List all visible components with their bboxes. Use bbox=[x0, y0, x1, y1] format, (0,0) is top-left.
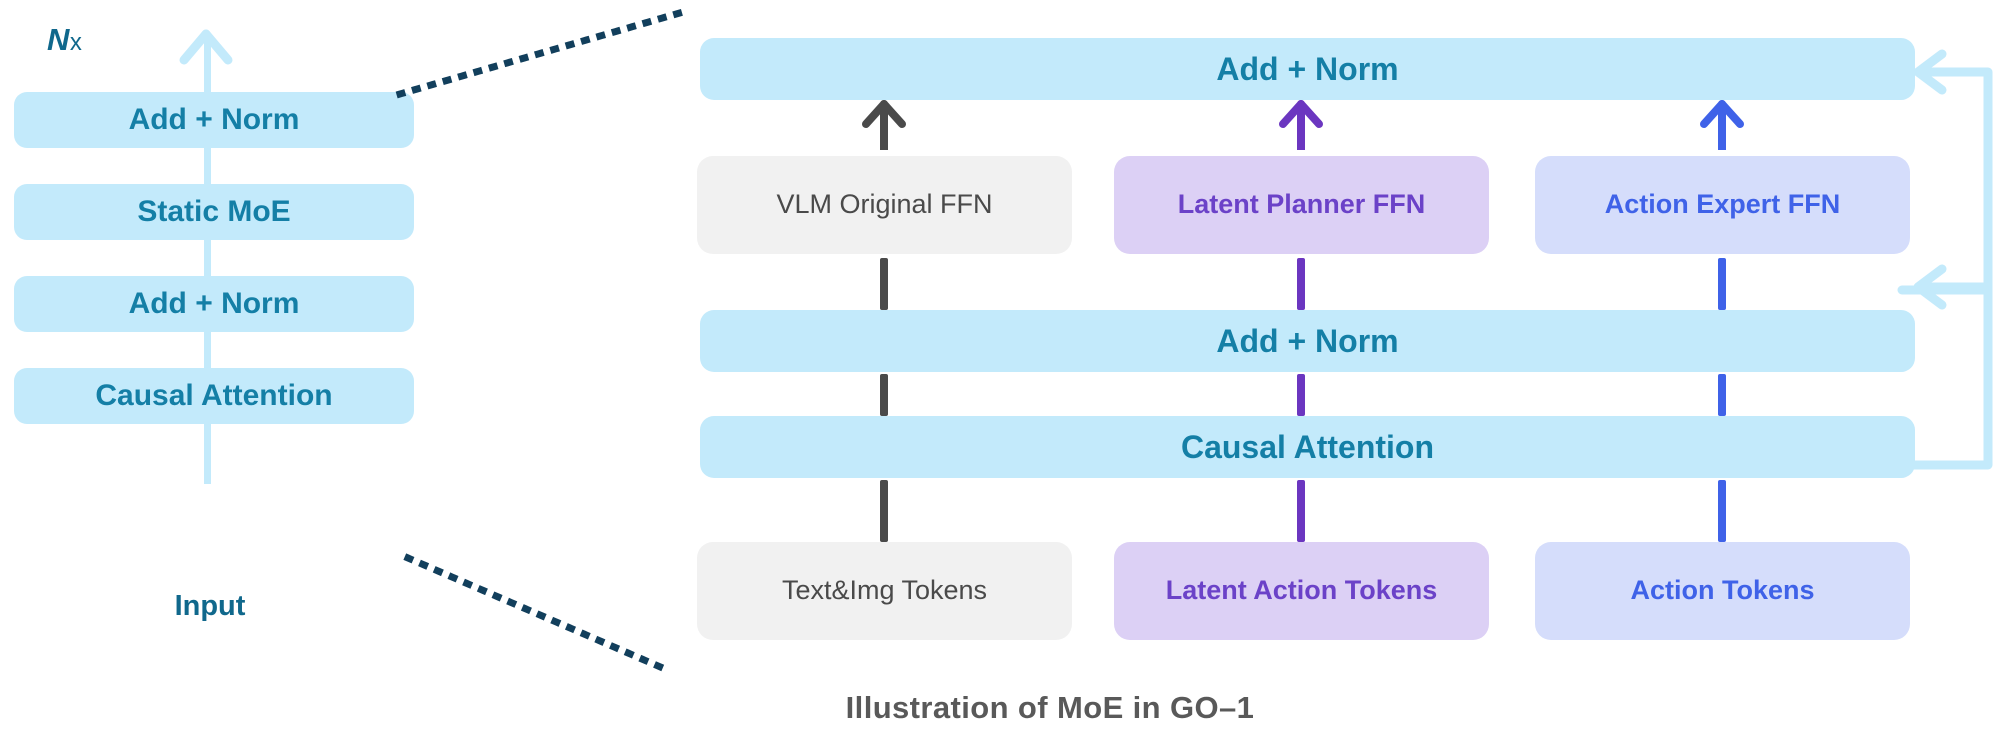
right-block-causal-attention[interactable]: Causal Attention bbox=[700, 416, 1915, 478]
token-label: Latent Action Tokens bbox=[1166, 573, 1438, 608]
diagram-canvas: Nx Add + Norm Static MoE Add + Norm Caus… bbox=[0, 0, 2014, 748]
connector-addnorm-to-attention-vlm bbox=[880, 374, 888, 416]
residual-arrow-bottom bbox=[1890, 245, 2014, 545]
ffn-label: Latent Planner FFN bbox=[1178, 187, 1426, 222]
connector-addnorm-to-attention-expert bbox=[1718, 374, 1726, 416]
connector-tokens-to-attention-action bbox=[1718, 480, 1726, 542]
connector-expert-ffn-to-addnorm bbox=[1718, 258, 1726, 310]
connector-tokens-to-attention-latent bbox=[1297, 480, 1305, 542]
connector-planner-ffn-to-addnorm bbox=[1297, 258, 1305, 310]
ffn-label: Action Expert FFN bbox=[1605, 187, 1841, 222]
ffn-box-vlm-original[interactable]: VLM Original FFN bbox=[697, 156, 1072, 254]
token-box-text-img[interactable]: Text&Img Tokens bbox=[697, 542, 1072, 640]
token-box-latent-action[interactable]: Latent Action Tokens bbox=[1114, 542, 1489, 640]
right-block-label: Causal Attention bbox=[1181, 429, 1434, 466]
connector-addnorm-to-attention-planner bbox=[1297, 374, 1305, 416]
token-box-action[interactable]: Action Tokens bbox=[1535, 542, 1910, 640]
connector-vlm-ffn-to-addnorm bbox=[880, 258, 888, 310]
ffn-box-action-expert[interactable]: Action Expert FFN bbox=[1535, 156, 1910, 254]
ffn-box-latent-planner[interactable]: Latent Planner FFN bbox=[1114, 156, 1489, 254]
right-moe-detail-panel: Add + Norm VLM Original FFN Latent Plann… bbox=[0, 0, 2014, 700]
token-label: Text&Img Tokens bbox=[782, 573, 987, 608]
right-block-add-norm-top[interactable]: Add + Norm bbox=[700, 38, 1915, 100]
token-label: Action Tokens bbox=[1630, 573, 1814, 608]
ffn-label: VLM Original FFN bbox=[776, 187, 992, 222]
arrow-up-blue-icon bbox=[1700, 102, 1744, 150]
right-block-label: Add + Norm bbox=[1216, 51, 1398, 88]
arrow-up-dark-icon bbox=[862, 102, 906, 150]
arrow-up-purple-icon bbox=[1279, 102, 1323, 150]
connector-tokens-to-attention-text bbox=[880, 480, 888, 542]
figure-caption: Illustration of MoE in GO–1 bbox=[600, 690, 1500, 726]
right-block-label: Add + Norm bbox=[1216, 323, 1398, 360]
right-block-add-norm-mid[interactable]: Add + Norm bbox=[700, 310, 1915, 372]
